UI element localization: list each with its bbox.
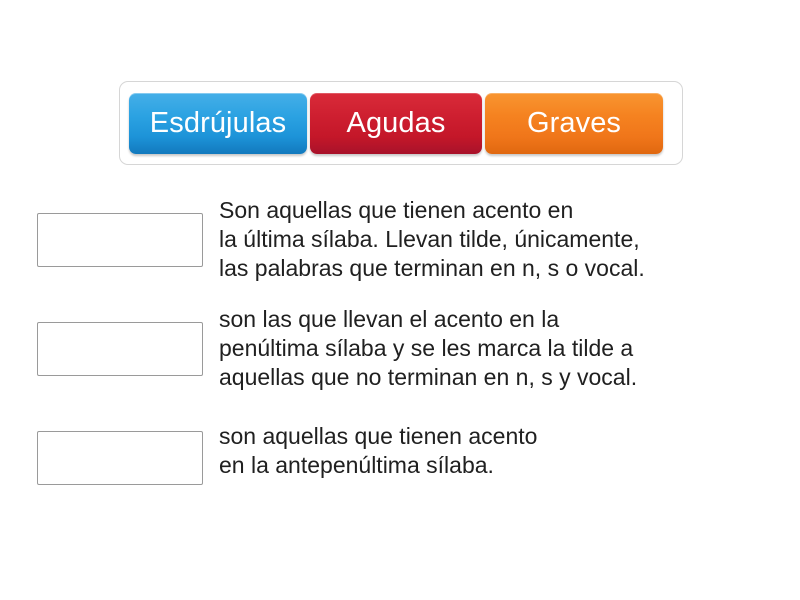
answer-line: en la antepenúltima sílaba. [219,451,786,480]
answer-rows: Son aquellas que tienen acento en la últ… [0,196,800,514]
dropzone-1[interactable] [37,213,203,267]
answer-line: Son aquellas que tienen acento en [219,196,786,225]
dropzone-cell [0,322,219,376]
dropzone-cell [0,213,219,267]
answer-line: aquellas que no terminan en n, s y vocal… [219,363,786,392]
tile-tray: Esdrújulas Agudas Graves [119,81,683,165]
answer-line: la última sílaba. Llevan tilde, únicamen… [219,225,786,254]
dropzone-cell [0,431,219,485]
dropzone-3[interactable] [37,431,203,485]
answer-row: son las que llevan el acento en la penúl… [0,305,800,392]
answer-row: son aquellas que tienen acento en la ant… [0,422,800,494]
answer-line: son aquellas que tienen acento [219,422,786,451]
answer-row: Son aquellas que tienen acento en la últ… [0,196,800,283]
draggable-tile-esdrujulas[interactable]: Esdrújulas [129,93,307,154]
draggable-tile-graves[interactable]: Graves [485,93,663,154]
answer-definition-1: Son aquellas que tienen acento en la últ… [219,196,800,283]
draggable-tile-agudas[interactable]: Agudas [310,93,482,154]
tile-label: Agudas [347,107,446,140]
dropzone-2[interactable] [37,322,203,376]
answer-line: penúltima sílaba y se les marca la tilde… [219,334,786,363]
answer-definition-2: son las que llevan el acento en la penúl… [219,305,800,392]
tile-label: Graves [527,107,621,140]
tile-label: Esdrújulas [150,107,286,140]
answer-line: son las que llevan el acento en la [219,305,786,334]
answer-definition-3: son aquellas que tienen acento en la ant… [219,422,800,480]
answer-line: las palabras que terminan en n, s o voca… [219,254,786,283]
